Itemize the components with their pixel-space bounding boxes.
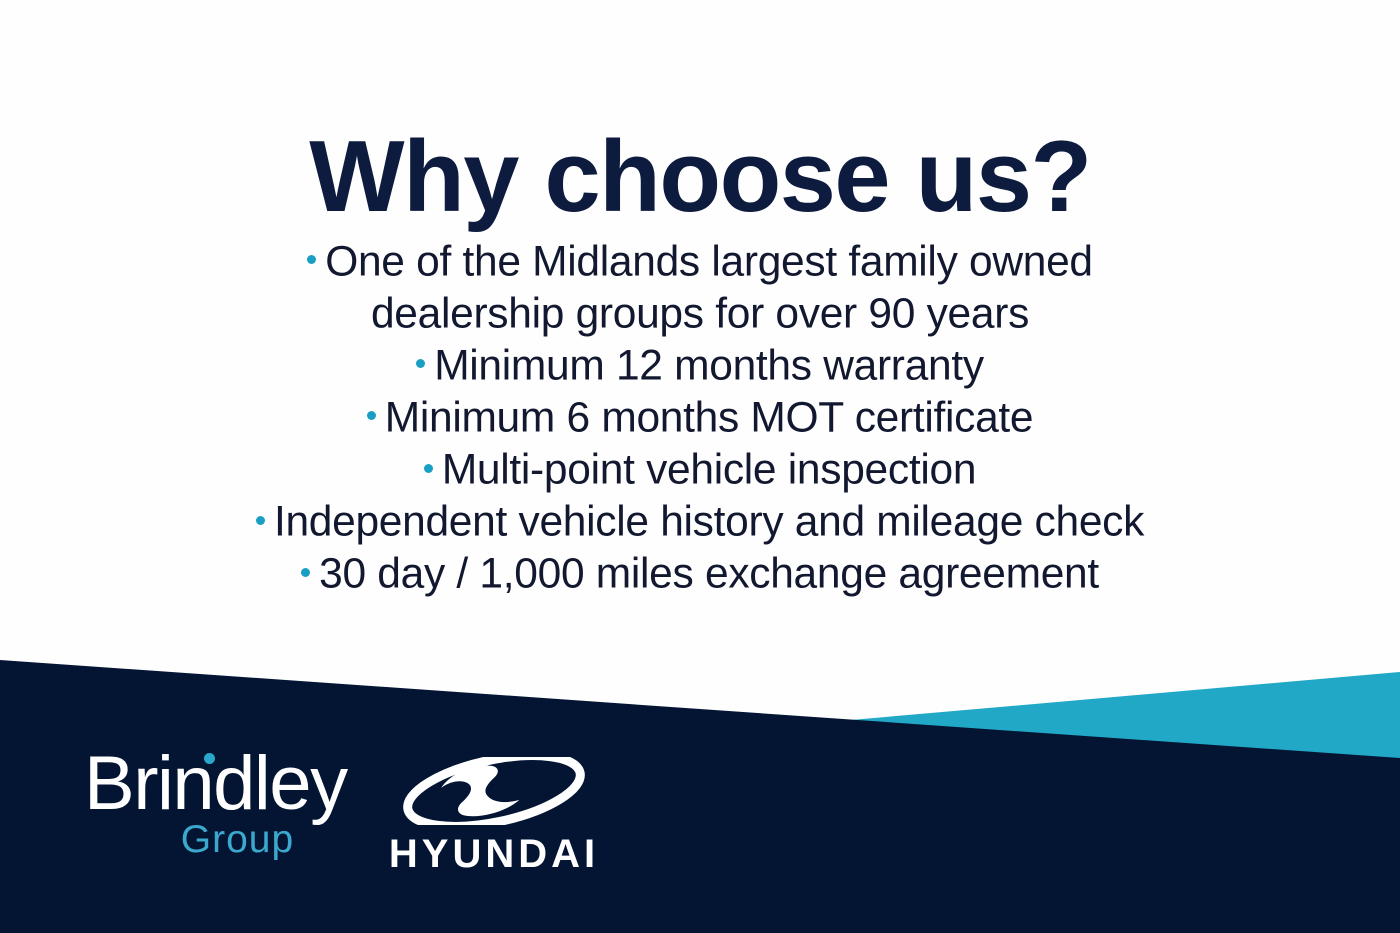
bullet-dot-icon: [416, 359, 425, 368]
list-item-label: Multi-point vehicle inspection: [442, 447, 976, 494]
benefits-list: One of the Midlands largest family owned…: [0, 236, 1400, 600]
list-item-label: 30 day / 1,000 miles exchange agreement: [319, 551, 1099, 598]
page-title: Why choose us?: [0, 124, 1400, 231]
slide-canvas: Why choose us? One of the Midlands large…: [0, 0, 1400, 933]
list-item: 30 day / 1,000 miles exchange agreement: [0, 548, 1400, 600]
hyundai-emblem-icon: [399, 757, 589, 825]
list-item-label: Independent vehicle history and mileage …: [274, 499, 1144, 546]
bullet-dot-icon: [424, 464, 433, 473]
logo-lockup: Brindley Group HYUNDAI: [80, 745, 604, 875]
hyundai-wordmark: HYUNDAI: [384, 833, 604, 875]
list-item: One of the Midlands largest family owned: [0, 236, 1400, 288]
list-item: Minimum 6 months MOT certificate: [0, 392, 1400, 444]
bullet-dot-icon: [307, 255, 316, 264]
list-item-label: Minimum 12 months warranty: [434, 343, 984, 390]
list-item: Multi-point vehicle inspection: [0, 444, 1400, 496]
list-item-label: One of the Midlands largest family owned: [325, 238, 1093, 285]
teal-band-shape: [828, 672, 1400, 766]
brindley-group-logo: Brindley Group: [80, 745, 340, 861]
list-item-label: Minimum 6 months MOT certificate: [385, 395, 1034, 442]
list-item-label: dealership groups for over 90 years: [371, 291, 1029, 338]
bullet-dot-icon: [367, 411, 376, 420]
list-item: Independent vehicle history and mileage …: [0, 496, 1400, 548]
bullet-dot-icon: [301, 568, 310, 577]
bullet-dot-icon: [256, 516, 265, 525]
brindley-i-dot-icon: [204, 753, 215, 764]
list-item: Minimum 12 months warranty: [0, 340, 1400, 392]
hyundai-logo: HYUNDAI: [384, 757, 604, 875]
list-item: dealership groups for over 90 years: [0, 288, 1400, 340]
